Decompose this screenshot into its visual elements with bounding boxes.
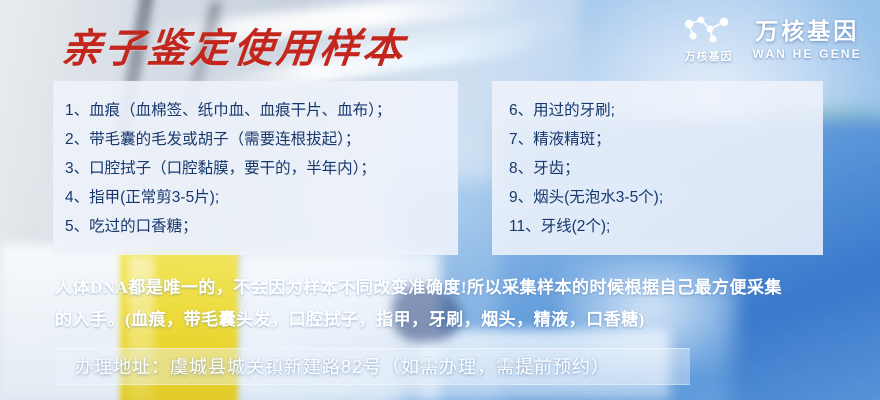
list-item: 4、指甲(正常剪3-5片); [65,183,458,212]
brand-name-cn: 万核基因 [755,19,859,43]
list-item: 2、带毛囊的毛发或胡子（需要连根拔起）； [65,125,458,154]
list-item: 1、血痕（血棉签、纸巾血、血痕干片、血布）； [65,96,458,125]
brand-name-en: WAN HE GENE [752,47,862,61]
list-item: 9、烟头(无泡水3-5个); [509,183,823,212]
logo-mark-label: 万核基因 [684,48,732,64]
list-item: 6、用过的牙刷; [509,96,823,125]
list-item: 5、吃过的口香糖； [65,212,458,241]
page-title: 亲子鉴定使用样本 [59,16,409,74]
list-item: 3、口腔拭子（口腔黏膜，要干的，半年内）； [65,154,458,183]
brand-logo: 万核基因 万核基因 WAN HE GENE [680,16,862,64]
logo-mark: 万核基因 [680,16,736,64]
sample-list-right: 6、用过的牙刷; 7、精液精斑； 8、牙齿； 9、烟头(无泡水3-5个); 11… [492,81,823,255]
sample-list-left: 1、血痕（血棉签、纸巾血、血痕干片、血布）； 2、带毛囊的毛发或胡子（需要连根拔… [53,81,458,255]
address-text: 办理地址：虞城县城关镇新建路82号（如需办理，需提前预约） [75,348,610,383]
list-item: 7、精液精斑； [509,125,823,154]
note-line-2: 的入手。(血痕，带毛囊头发，口腔拭子，指甲，牙刷，烟头，精液，口香糖) [55,304,845,336]
note-line-1: 人体DNA都是唯一的，不会因为样本不同改变准确度!所以采集样本的时候根据自己最方… [55,272,845,304]
dna-molecule-icon [680,16,736,46]
promo-banner: 亲子鉴定使用样本 万核基因 [0,0,880,400]
brand-wordmark: 万核基因 WAN HE GENE [752,19,862,60]
list-item: 8、牙齿； [509,154,823,183]
list-item: 11、牙线(2个); [509,212,823,241]
note-paragraph: 人体DNA都是唯一的，不会因为样本不同改变准确度!所以采集样本的时候根据自己最方… [55,272,845,336]
